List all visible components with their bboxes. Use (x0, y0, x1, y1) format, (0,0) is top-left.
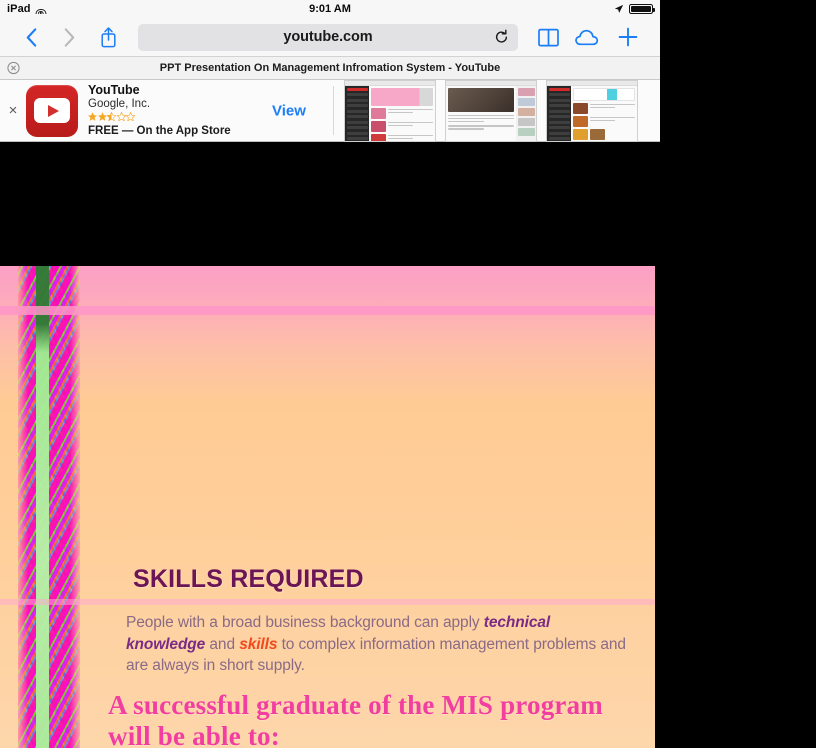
slide-body: SKILLS REQUIRED People with a broad busi… (0, 266, 655, 748)
play-triangle-icon (48, 105, 59, 117)
shot-row (573, 129, 635, 140)
star-empty-icon (126, 112, 135, 121)
rating-stars (88, 112, 231, 123)
shot-row (573, 116, 635, 127)
page-content: SKILLS REQUIRED People with a broad busi… (0, 162, 660, 748)
shot-content (571, 86, 637, 142)
app-developer: Google, Inc. (88, 97, 231, 111)
view-button[interactable]: View (272, 102, 306, 119)
app-price: FREE — On the App Store (88, 124, 231, 138)
battery-full-icon (629, 4, 653, 15)
app-name: YouTube (88, 83, 231, 97)
youtube-play-icon[interactable] (26, 85, 78, 137)
chevron-right-icon (64, 28, 75, 47)
smart-app-banner: × YouTube Google, Inc. FREE — On the (0, 80, 660, 142)
browser-toolbar: youtube.com (0, 18, 660, 56)
icloud-tabs-button[interactable] (568, 29, 608, 46)
banner-dismiss-button[interactable]: × (0, 102, 26, 119)
address-bar[interactable]: youtube.com (138, 24, 518, 51)
youtube-watch-screenshot[interactable] (445, 80, 537, 142)
shot-row (573, 103, 635, 114)
paragraph-part1: People with a broad business background … (126, 614, 484, 631)
bookmarks-button[interactable] (528, 28, 568, 47)
youtube-browse-screenshot[interactable] (546, 80, 638, 142)
paragraph-part2: and (205, 636, 239, 653)
slide-script-text: A successful graduate of the MIS program… (108, 690, 648, 748)
back-button[interactable] (12, 28, 50, 47)
status-bar: iPad 9:01 AM (0, 0, 660, 18)
cloud-icon (575, 29, 601, 46)
shot-row (448, 124, 514, 130)
banner-info: YouTube Google, Inc. FREE — On the App S… (88, 83, 231, 138)
shot-hero (371, 88, 433, 106)
slide-paragraph: People with a broad business background … (126, 612, 631, 677)
youtube-plate (34, 98, 70, 123)
shot-row (371, 121, 433, 132)
banner-divider (333, 86, 334, 135)
shot-row (371, 134, 433, 142)
star-filled-icon (98, 112, 107, 121)
tab-bar: PPT Presentation On Management Infromati… (0, 56, 660, 80)
shot-sidebar (345, 86, 369, 142)
tab-title[interactable]: PPT Presentation On Management Infromati… (0, 62, 660, 74)
star-filled-icon (88, 112, 97, 121)
star-half-icon (107, 112, 116, 121)
share-button[interactable] (90, 26, 126, 48)
shot-body (345, 86, 435, 142)
book-icon (538, 28, 559, 47)
youtube-home-screenshot[interactable] (344, 80, 436, 142)
shot-row (448, 114, 514, 123)
reload-icon[interactable] (494, 30, 509, 45)
shot-sidebar (547, 86, 571, 142)
plus-icon (618, 27, 638, 47)
new-tab-button[interactable] (608, 27, 648, 47)
emphasis-skills: skills (239, 636, 277, 653)
shot-row (371, 108, 433, 119)
shot-content (369, 86, 435, 142)
shot-body (547, 86, 637, 142)
safari-browser: iPad 9:01 AM (0, 0, 660, 748)
url-text: youtube.com (283, 29, 372, 45)
right-black-gutter (660, 0, 816, 748)
clock-label: 9:01 AM (0, 3, 660, 15)
presentation-slide: SKILLS REQUIRED People with a broad busi… (0, 266, 655, 748)
page-title: SKILLS REQUIRED (133, 565, 364, 594)
screen: iPad 9:01 AM (0, 0, 816, 748)
shot-content (446, 86, 516, 141)
black-video-area[interactable] (0, 162, 660, 266)
shot-hero (573, 88, 635, 101)
shot-video (448, 88, 514, 112)
shot-sidebar-right (516, 86, 536, 141)
forward-button[interactable] (50, 28, 88, 47)
banner-screenshots (344, 80, 638, 141)
star-empty-icon (117, 112, 126, 121)
close-circle-icon[interactable] (7, 62, 20, 75)
shot-body (446, 86, 536, 141)
chevron-left-icon (26, 28, 37, 47)
share-upload-icon (100, 26, 117, 48)
